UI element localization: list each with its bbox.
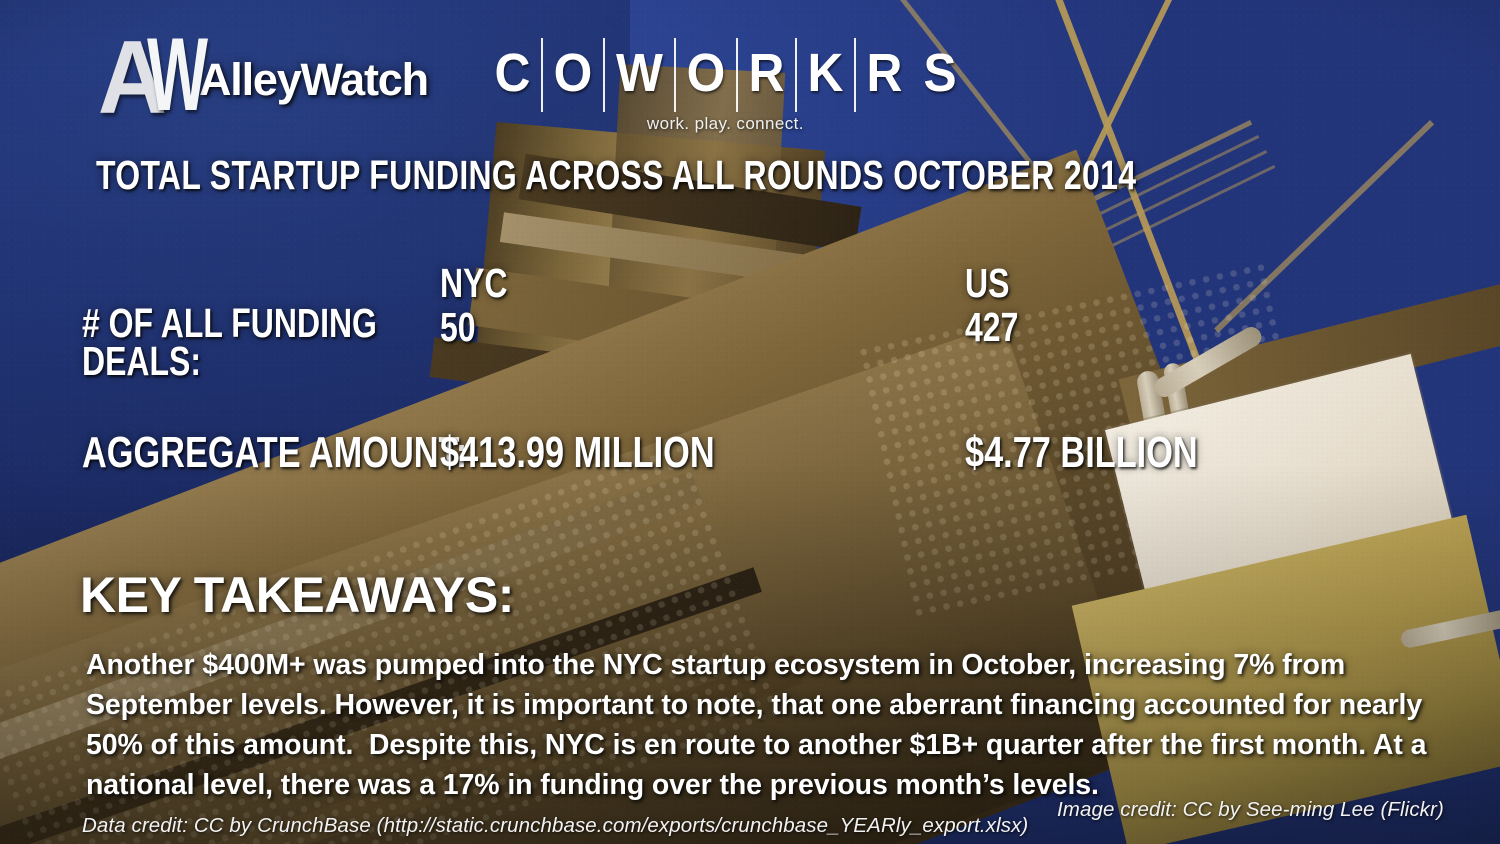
takeaway-line: 50% of this amount. Despite this, NYC is… xyxy=(86,725,1466,765)
key-takeaways-title: KEY TAKEAWAYS: xyxy=(80,566,514,624)
data-credit: Data credit: CC by CrunchBase (http://st… xyxy=(82,814,1028,838)
page-title: TOTAL STARTUP FUNDING ACROSS ALL ROUNDS … xyxy=(96,152,1172,199)
key-takeaways-body: Another $400M+ was pumped into the NYC s… xyxy=(86,645,1466,805)
logo-bar: A W AlleyWatch C O W O R K xyxy=(95,24,967,128)
column-header-nyc: NYC xyxy=(440,263,508,304)
takeaway-line: Another $400M+ was pumped into the NYC s… xyxy=(86,645,1466,685)
row-label-aggregate: AGGREGATE AMOUNT: xyxy=(82,431,467,475)
stats-block: NYC US # OF ALL FUNDING DEALS: 50 427 AG… xyxy=(0,255,1500,495)
infographic-canvas: A W AlleyWatch C O W O R K xyxy=(0,0,1500,844)
value-deals-nyc: 50 xyxy=(440,307,476,348)
coworkrs-divider xyxy=(854,38,856,112)
coworkrs-letters: C O W O R K R S xyxy=(484,46,967,100)
takeaway-line: September levels. However, it is importa… xyxy=(86,685,1466,725)
alleywatch-wordmark: AlleyWatch xyxy=(199,54,428,106)
coworkrs-divider xyxy=(603,38,605,112)
coworkrs-letter: O xyxy=(545,46,600,100)
coworkrs-divider xyxy=(795,38,797,112)
value-deals-us: 427 xyxy=(965,307,1018,348)
coworkrs-divider xyxy=(674,38,676,112)
image-credit: Image credit: CC by See-ming Lee (Flickr… xyxy=(1057,798,1444,822)
value-aggregate-us: $4.77 BILLION xyxy=(965,431,1198,475)
coworkrs-letter: W xyxy=(608,46,671,100)
coworkrs-letter: O xyxy=(678,46,733,100)
row-label-deals-line2: DEALS: xyxy=(82,341,201,382)
coworkrs-divider xyxy=(736,38,738,112)
content-layer: A W AlleyWatch C O W O R K xyxy=(0,0,1500,844)
coworkrs-letter: K xyxy=(799,46,851,100)
coworkrs-tagline: work. play. connect. xyxy=(484,114,967,134)
coworkrs-letter: R xyxy=(858,46,910,100)
coworkrs-divider xyxy=(541,38,543,112)
coworkrs-letter: C xyxy=(486,46,538,100)
coworkrs-logo: C O W O R K R S work. play. connect. xyxy=(484,46,967,134)
alleywatch-monogram-icon: A W xyxy=(95,24,187,124)
value-aggregate-nyc: $413.99 MILLION xyxy=(440,431,715,475)
column-header-us: US xyxy=(965,263,1009,304)
monogram-letter-w: W xyxy=(147,23,206,127)
coworkrs-letter: S xyxy=(915,46,965,100)
coworkrs-letter: R xyxy=(740,46,792,100)
